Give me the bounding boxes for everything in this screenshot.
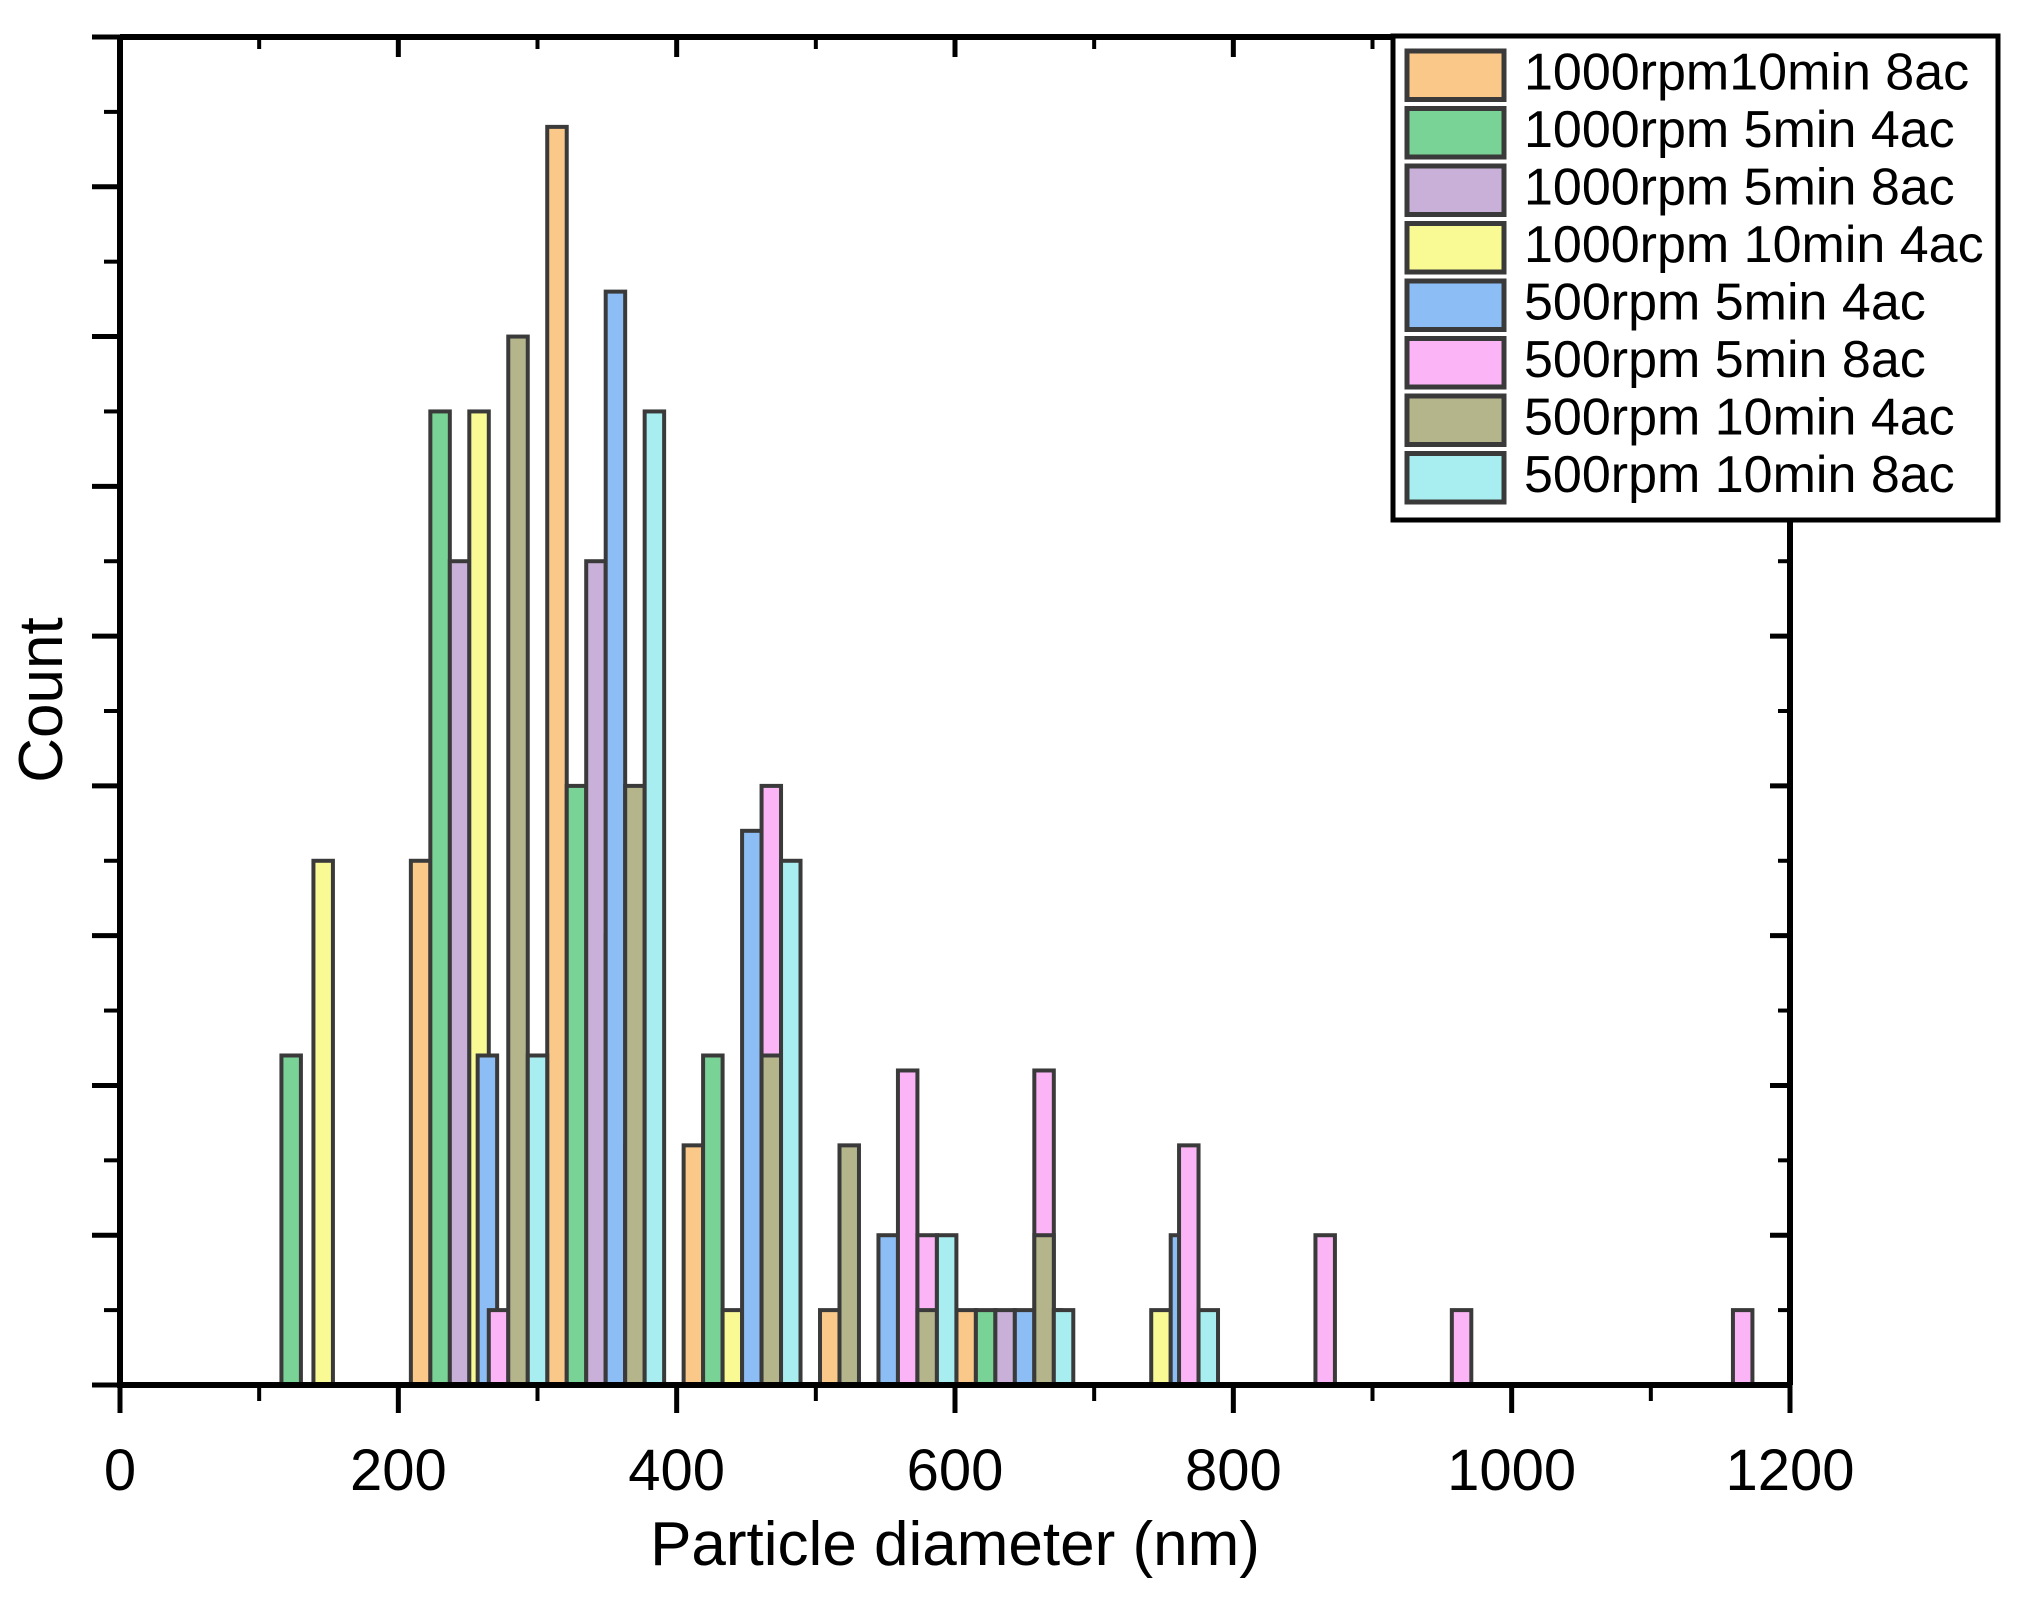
bar: [839, 1145, 858, 1385]
bar: [917, 1310, 936, 1385]
legend-item[interactable]: 500rpm 10min 8ac: [1407, 446, 1955, 504]
bar: [489, 1310, 508, 1385]
bar: [995, 1310, 1014, 1385]
bar: [1315, 1235, 1334, 1385]
legend-item[interactable]: 1000rpm10min 8ac: [1407, 43, 1969, 101]
bar: [762, 1055, 781, 1385]
bar: [1199, 1310, 1218, 1385]
bar: [1733, 1310, 1752, 1385]
bar: [313, 861, 332, 1385]
bar: [430, 411, 449, 1385]
bar: [1015, 1310, 1034, 1385]
chart-canvas: 020040060080010001200 Particle diameter …: [0, 0, 2033, 1621]
legend-swatch: [1407, 51, 1504, 100]
legend-item[interactable]: 500rpm 5min 8ac: [1407, 331, 1926, 389]
bar: [1179, 1145, 1198, 1385]
bar: [703, 1055, 722, 1385]
bar: [684, 1145, 703, 1385]
bar: [411, 861, 430, 1385]
bar: [1034, 1235, 1053, 1385]
legend-item[interactable]: 1000rpm 5min 4ac: [1407, 101, 1955, 159]
histogram-chart: 020040060080010001200 Particle diameter …: [0, 0, 2033, 1621]
legend-label: 500rpm 10min 8ac: [1524, 446, 1955, 504]
bar: [742, 831, 761, 1385]
x-tick-label: 400: [628, 1438, 725, 1503]
legend-label: 500rpm 5min 4ac: [1524, 273, 1926, 331]
bar: [606, 292, 625, 1385]
bar: [820, 1310, 839, 1385]
legend-swatch: [1407, 224, 1504, 273]
bar: [645, 411, 664, 1385]
legend: 1000rpm10min 8ac1000rpm 5min 4ac1000rpm …: [1393, 36, 1998, 520]
bar: [976, 1310, 995, 1385]
legend-label: 500rpm 10min 4ac: [1524, 388, 1955, 446]
x-tick-label: 800: [1185, 1438, 1282, 1503]
legend-item[interactable]: 1000rpm 5min 8ac: [1407, 158, 1955, 216]
legend-item[interactable]: 500rpm 10min 4ac: [1407, 388, 1955, 446]
bar: [898, 1070, 917, 1385]
bar: [1151, 1310, 1170, 1385]
bar: [586, 561, 605, 1385]
legend-item[interactable]: 500rpm 5min 4ac: [1407, 273, 1926, 331]
legend-swatch: [1407, 396, 1504, 445]
bar: [508, 337, 527, 1385]
bar: [625, 786, 644, 1385]
x-tick-label: 1000: [1447, 1438, 1576, 1503]
legend-swatch: [1407, 339, 1504, 388]
bar: [567, 786, 586, 1385]
bar: [450, 561, 469, 1385]
x-tick-label: 1200: [1725, 1438, 1854, 1503]
bar: [281, 1055, 300, 1385]
bar: [723, 1310, 742, 1385]
x-tick-label: 200: [350, 1438, 447, 1503]
legend-swatch: [1407, 454, 1504, 503]
bar: [528, 1055, 547, 1385]
x-axis-title: Particle diameter (nm): [650, 1510, 1260, 1579]
legend-label: 500rpm 5min 8ac: [1524, 331, 1926, 389]
bar: [1054, 1310, 1073, 1385]
bar: [781, 861, 800, 1385]
legend-label: 1000rpm 5min 4ac: [1524, 101, 1955, 159]
legend-label: 1000rpm10min 8ac: [1524, 43, 1969, 101]
bar: [878, 1235, 897, 1385]
legend-label: 1000rpm 5min 8ac: [1524, 158, 1955, 216]
bar: [956, 1310, 975, 1385]
legend-swatch: [1407, 166, 1504, 215]
legend-swatch: [1407, 109, 1504, 158]
bar: [547, 127, 566, 1385]
y-axis-title: Count: [7, 617, 76, 782]
x-tick-label: 600: [907, 1438, 1004, 1503]
legend-label: 1000rpm 10min 4ac: [1524, 216, 1984, 274]
legend-item[interactable]: 1000rpm 10min 4ac: [1407, 216, 1984, 274]
bar: [937, 1235, 956, 1385]
x-tick-label: 0: [104, 1438, 136, 1503]
bar: [1452, 1310, 1471, 1385]
x-tick-labels: 020040060080010001200: [104, 1438, 1855, 1503]
legend-swatch: [1407, 281, 1504, 330]
